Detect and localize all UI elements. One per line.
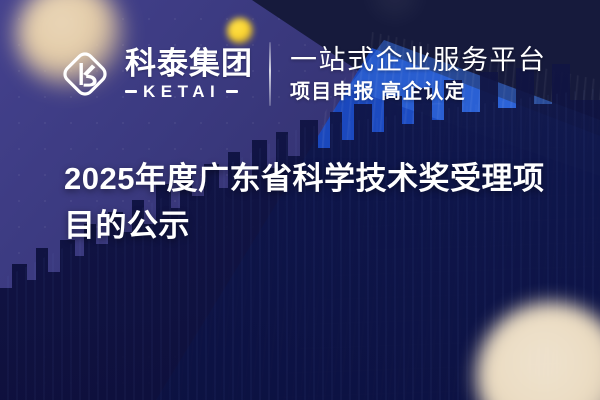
- brand-wordmark: 科泰集团 KETAI: [125, 48, 253, 99]
- brand-logo: 科泰集团 KETAI: [57, 46, 253, 102]
- banner-header: 科泰集团 KETAI 一站式企业服务平台 项目申报 高企认定: [0, 34, 600, 114]
- tagline-primary: 一站式企业服务平台: [290, 45, 547, 75]
- ketai-diamond-monogram-icon: [57, 46, 113, 102]
- brand-name-cn: 科泰集团: [125, 48, 253, 80]
- wordmark-dash-left: [125, 90, 137, 93]
- banner-title: 2025年度广东省科学技术奖受理项目的公示: [64, 155, 564, 249]
- wordmark-dash-right: [226, 90, 238, 93]
- promo-banner: 科泰集团 KETAI 一站式企业服务平台 项目申报 高企认定 2025年度广东省…: [0, 0, 600, 400]
- brand-tagline: 一站式企业服务平台 项目申报 高企认定: [290, 45, 547, 102]
- brand-name-en-row: KETAI: [125, 83, 253, 100]
- brand-name-en: KETAI: [143, 83, 220, 100]
- tagline-secondary: 项目申报 高企认定: [290, 81, 547, 103]
- header-divider: [269, 42, 271, 106]
